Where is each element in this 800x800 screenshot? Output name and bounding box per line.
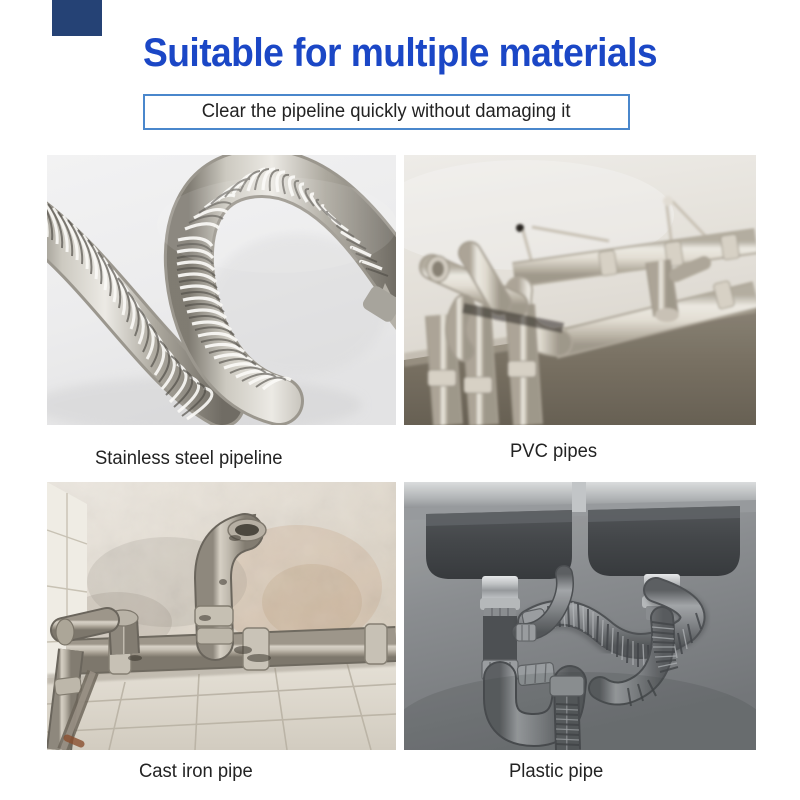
pvc-pipes-illustration	[404, 155, 756, 425]
subtitle-text: Clear the pipeline quickly without damag…	[202, 101, 571, 123]
photo-pvc-pipes	[404, 155, 756, 425]
caption-stainless-steel-pipeline: Stainless steel pipeline	[95, 447, 282, 470]
photo-cast-iron-pipe	[47, 482, 396, 750]
caption-plastic-pipe: Plastic pipe	[509, 760, 603, 783]
stainless-steel-hose-illustration	[47, 155, 396, 425]
caption-cast-iron-pipe: Cast iron pipe	[139, 760, 253, 783]
caption-pvc-pipes: PVC pipes	[510, 440, 597, 463]
photo-plastic-pipe	[404, 482, 756, 750]
page-title: Suitable for multiple materials	[28, 30, 772, 76]
marketing-banner: Suitable for multiple materials Clear th…	[0, 0, 800, 800]
cast-iron-pipe-illustration	[47, 482, 396, 750]
subtitle-box: Clear the pipeline quickly without damag…	[143, 94, 630, 130]
plastic-pipe-under-sink-illustration	[404, 482, 756, 750]
photo-stainless-steel-pipeline	[47, 155, 396, 425]
